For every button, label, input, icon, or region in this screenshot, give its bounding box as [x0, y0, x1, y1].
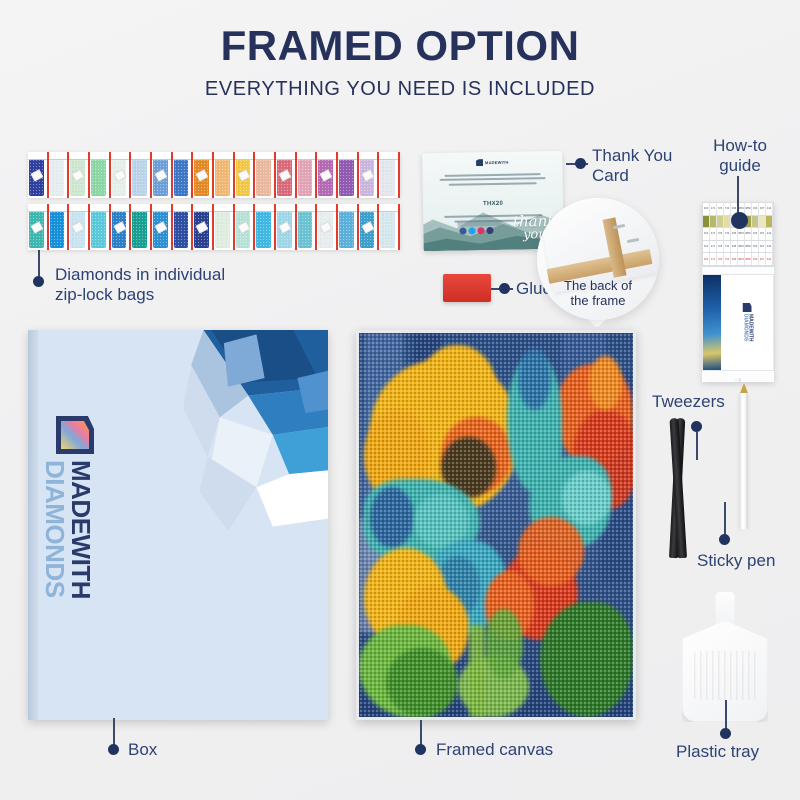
howto-callout-dot [731, 212, 748, 229]
box-callout-dot [108, 744, 119, 755]
chart-cell: 946 [731, 228, 738, 240]
chart-cell: 166 [752, 228, 759, 240]
diamond-bag [90, 204, 111, 250]
diamond-grains [298, 159, 313, 196]
chart-cell [717, 216, 724, 228]
chart-cell: 310 [703, 228, 710, 240]
chart-cell: 444 [766, 253, 773, 265]
guide-brand-text: MADEWITH DIAMONDS [742, 314, 753, 342]
chart-cell: 307 [759, 228, 766, 240]
stickypen-callout-dot [719, 534, 730, 545]
tweezers-label: Tweezers [652, 392, 725, 412]
chart-cell: 742 [724, 241, 731, 253]
diamond-bag [338, 204, 359, 250]
chart-row: 31047172574294638193852166307444 [703, 241, 773, 254]
artwork-shape [386, 648, 457, 717]
pen-base-icon [740, 529, 748, 542]
diamond-bag [28, 204, 49, 250]
diamonds-callout-dot [33, 276, 44, 287]
guide-cover-photo [703, 275, 721, 370]
diamond-bag [173, 152, 194, 198]
diamond-bag [111, 204, 132, 250]
tray-grooves [694, 651, 756, 700]
chart-cell: 946 [731, 253, 738, 265]
chart-cell: 3852 [745, 203, 752, 215]
diamond-grains [256, 159, 271, 196]
diamond-bags-row-top [28, 152, 400, 198]
diamond-bag [317, 204, 338, 250]
glue-item [443, 274, 491, 302]
stickypen-leader-line [724, 502, 726, 538]
chart-cell [703, 216, 710, 228]
chart-row: 31047172574294638193852166307444 [703, 228, 773, 241]
card-brand-text: MADEWITH [485, 160, 509, 165]
chart-cell: 166 [752, 253, 759, 265]
card-social-handle [457, 220, 501, 226]
diamond-grains [215, 159, 230, 196]
diamond-bag [338, 152, 359, 198]
diamond-bag [359, 152, 380, 198]
chart-cell [766, 216, 773, 228]
header: FRAMED OPTION EVERYTHING YOU NEED IS INC… [0, 24, 800, 101]
diamond-grains [50, 159, 65, 196]
plastic-tray-label: Plastic tray [676, 742, 759, 762]
diamond-bag [297, 204, 318, 250]
frame-back-bubble: The back of the frame [537, 198, 659, 320]
diamond-bags-row-bottom [28, 204, 400, 250]
diamond-bag [235, 152, 256, 198]
diamond-grains [174, 211, 189, 248]
chart-cell: 310 [703, 253, 710, 265]
chart-cell: 725 [717, 228, 724, 240]
box-label: Box [128, 740, 157, 760]
chart-cell: 310 [703, 203, 710, 215]
thank-you-card-label: Thank You Card [592, 146, 672, 186]
diamond-bag [193, 152, 214, 198]
diamond-bag [214, 152, 235, 198]
diamond-grains [339, 159, 354, 196]
diamond-grains [298, 211, 313, 248]
diamond-bag [214, 204, 235, 250]
diamond-bag [90, 152, 111, 198]
card-social-icons [460, 227, 494, 235]
tweezers-callout-dot [691, 421, 702, 432]
thankyou-callout-dot [575, 158, 586, 169]
guide-pen-decor [736, 378, 741, 382]
social-icon [478, 227, 485, 234]
chart-cell: 471 [710, 228, 717, 240]
chart-cell: 310 [703, 241, 710, 253]
artwork-shape [370, 487, 414, 548]
diamond-mark-icon [476, 159, 483, 166]
diamond-grains [174, 159, 189, 196]
social-icon [487, 227, 494, 234]
product-box: MADEWITH DIAMONDS [28, 330, 328, 720]
sticky-pen-label: Sticky pen [697, 551, 775, 571]
social-icon [460, 228, 467, 235]
box-brand-text: MADEWITH DIAMONDS [42, 460, 94, 599]
chart-cell: 3852 [745, 228, 752, 240]
diamond-grains [215, 211, 230, 248]
chart-cell: 3852 [745, 241, 752, 253]
diamond-bag [111, 152, 132, 198]
chart-cell: 444 [766, 203, 773, 215]
diamond-mark-icon [743, 303, 752, 312]
artwork-shape [540, 602, 633, 717]
diamond-bag [49, 204, 70, 250]
chart-cell: 725 [717, 203, 724, 215]
diamond-bag [317, 152, 338, 198]
chart-cell: 742 [724, 228, 731, 240]
tray-leader-line [725, 700, 727, 730]
chart-cell [724, 216, 731, 228]
artwork-shape [469, 625, 485, 717]
diamond-grains [91, 211, 106, 248]
chart-row: 31047172574294638193852166307444 [703, 253, 773, 266]
diamond-bag [131, 204, 152, 250]
diamonds-leader-line [38, 250, 40, 278]
card-discount-code: THX20 [483, 201, 503, 207]
diamond-grains [380, 211, 395, 248]
diamond-bag [28, 152, 49, 198]
artwork-shape [589, 356, 622, 410]
chart-cell: 307 [759, 241, 766, 253]
page-title: FRAMED OPTION [0, 24, 800, 68]
diamonds-label: Diamonds in individual zip-lock bags [55, 265, 225, 305]
tweezers-leader-line [696, 432, 698, 460]
artwork-shape [518, 348, 551, 409]
chart-cell: 166 [752, 203, 759, 215]
chart-cell: 3819 [738, 228, 745, 240]
chart-cell: 742 [724, 203, 731, 215]
chart-cell: 946 [731, 241, 738, 253]
artwork-shape [419, 345, 496, 429]
chart-cell: 725 [717, 241, 724, 253]
glue-callout-dot [499, 283, 510, 294]
artwork-shape [485, 609, 523, 678]
pen-tip-icon [740, 383, 748, 393]
diamond-grains [132, 159, 147, 196]
chart-cell: 471 [710, 253, 717, 265]
chart-cell [710, 216, 717, 228]
diamond-grains [132, 211, 147, 248]
diamond-bag [49, 152, 70, 198]
diamond-bag [235, 204, 256, 250]
tray-callout-dot [720, 728, 731, 739]
diamond-grains [339, 211, 354, 248]
diamond-bag [69, 152, 90, 198]
box-leader-line [113, 718, 115, 746]
tweezers [662, 418, 696, 558]
chart-cell: 307 [759, 203, 766, 215]
infographic-canvas: FRAMED OPTION EVERYTHING YOU NEED IS INC… [0, 0, 800, 800]
diamond-mark-icon [56, 416, 94, 454]
frame-back-label: The back of the frame [537, 278, 659, 309]
how-to-guide-label: How-to guide [700, 136, 780, 176]
chart-cell: 725 [717, 253, 724, 265]
framed-canvas [356, 330, 636, 720]
diamond-bag [276, 152, 297, 198]
chart-cell [759, 216, 766, 228]
diamond-bag [193, 204, 214, 250]
diamond-bag [131, 152, 152, 198]
diamond-bag [359, 204, 380, 250]
card-message-lines [436, 171, 548, 189]
canvas-leader-line [420, 720, 422, 746]
chart-cell: 471 [710, 203, 717, 215]
sticky-pen [739, 392, 748, 530]
chart-cell [752, 216, 759, 228]
chart-cell: 444 [766, 241, 773, 253]
chart-cell: 742 [724, 253, 731, 265]
diamond-bag [276, 204, 297, 250]
artwork-shape [562, 471, 611, 525]
framed-canvas-label: Framed canvas [436, 740, 553, 760]
page-subtitle: EVERYTHING YOU NEED IS INCLUDED [0, 78, 800, 101]
diamond-bag [173, 204, 194, 250]
diamond-bag [152, 204, 173, 250]
social-icon [469, 228, 476, 235]
diamond-bag [69, 204, 90, 250]
canvas-callout-dot [415, 744, 426, 755]
diamond-bag [255, 204, 276, 250]
diamond-grains [380, 159, 395, 196]
chart-cell: 3819 [738, 241, 745, 253]
artwork-shape [518, 517, 584, 586]
chart-cell: 444 [766, 228, 773, 240]
diamond-bag [297, 152, 318, 198]
guide-brand-logo: MADEWITH DIAMONDS [721, 275, 773, 370]
chart-cell: 3819 [738, 253, 745, 265]
card-brand-logo: MADEWITH [476, 159, 509, 167]
chart-cell: 166 [752, 241, 759, 253]
diamond-bag [152, 152, 173, 198]
canvas-artwork [359, 333, 633, 717]
box-brand-logo: MADEWITH DIAMONDS [42, 416, 94, 599]
chart-cell: 3852 [745, 253, 752, 265]
diamond-grains [256, 211, 271, 248]
diamond-grains [91, 159, 106, 196]
diamond-bag [255, 152, 276, 198]
diamond-grains [50, 211, 65, 248]
chart-cell: 307 [759, 253, 766, 265]
how-to-guide: 3104717257429463819385216630744431047172… [702, 202, 774, 382]
guide-sheet: MADEWITH DIAMONDS [702, 274, 774, 371]
diamond-bag [379, 204, 400, 250]
chart-cell: 471 [710, 241, 717, 253]
diamond-bag [379, 152, 400, 198]
